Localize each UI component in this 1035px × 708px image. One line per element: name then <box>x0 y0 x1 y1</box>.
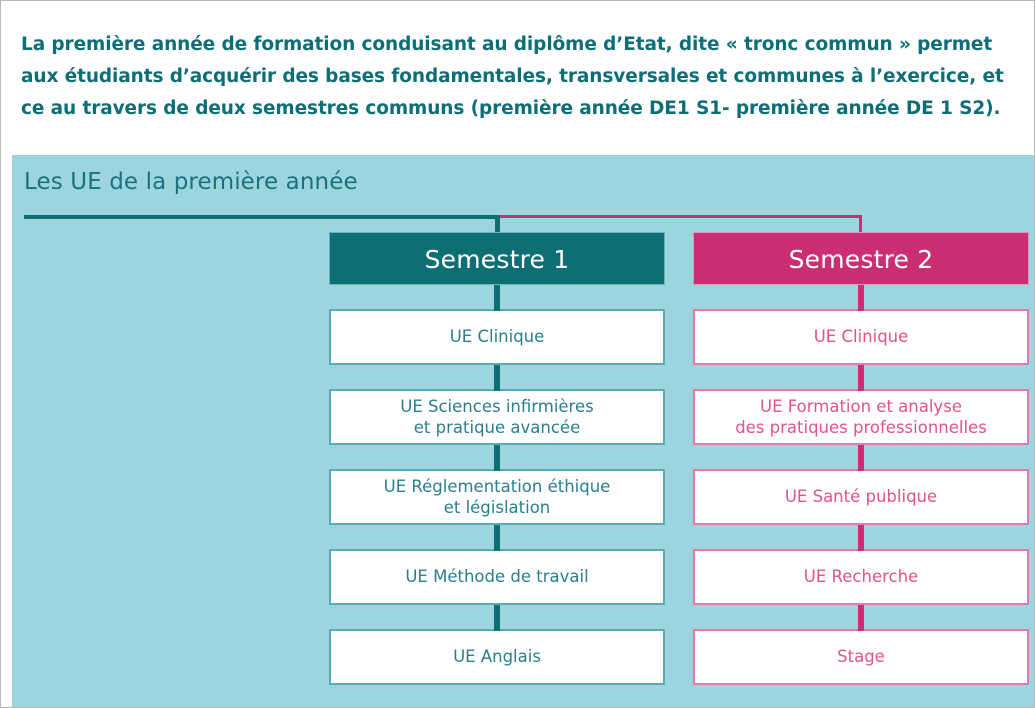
column-semestre-1: Semestre 1 UE Clinique UE Sciences infir… <box>329 232 665 685</box>
node-s1-1[interactable]: UE Clinique <box>329 309 665 365</box>
page-title: Les UE de la première année <box>24 169 358 195</box>
page-root: La première année de formation conduisan… <box>0 0 1035 708</box>
node-label: UE Santé publique <box>785 486 937 507</box>
node-label: UE Anglais <box>453 646 541 667</box>
node-s1-5[interactable]: UE Anglais <box>329 629 665 685</box>
connector-rail-pink <box>498 215 862 218</box>
column-semestre-2: Semestre 2 UE Clinique UE Formation et a… <box>693 232 1029 685</box>
diagram-panel: Les UE de la première année Semestre 1 U… <box>12 155 1035 707</box>
node-s1-2[interactable]: UE Sciences infirmièreset pratique avanc… <box>329 389 665 445</box>
node-label: UE Méthode de travail <box>405 566 588 587</box>
node-label: UE Clinique <box>814 326 909 347</box>
intro-text: La première année de formation conduisan… <box>21 29 1015 124</box>
node-label: UE Recherche <box>804 566 918 587</box>
column-header-semestre-1[interactable]: Semestre 1 <box>329 232 665 285</box>
connector-rail-teal <box>24 215 498 219</box>
node-s2-1[interactable]: UE Clinique <box>693 309 1029 365</box>
node-s2-5[interactable]: Stage <box>693 629 1029 685</box>
node-label: UE Sciences infirmièreset pratique avanc… <box>400 396 593 438</box>
column-header-semestre-2[interactable]: Semestre 2 <box>693 232 1029 285</box>
node-s2-4[interactable]: UE Recherche <box>693 549 1029 605</box>
node-s1-4[interactable]: UE Méthode de travail <box>329 549 665 605</box>
node-s2-3[interactable]: UE Santé publique <box>693 469 1029 525</box>
node-label: UE Formation et analysedes pratiques pro… <box>735 396 987 438</box>
node-s1-3[interactable]: UE Réglementation éthiqueet législation <box>329 469 665 525</box>
node-label: UE Réglementation éthiqueet législation <box>384 476 611 518</box>
node-s2-2[interactable]: UE Formation et analysedes pratiques pro… <box>693 389 1029 445</box>
node-label: Stage <box>837 646 885 667</box>
node-label: UE Clinique <box>450 326 545 347</box>
intro-paragraph: La première année de formation conduisan… <box>15 15 1021 145</box>
